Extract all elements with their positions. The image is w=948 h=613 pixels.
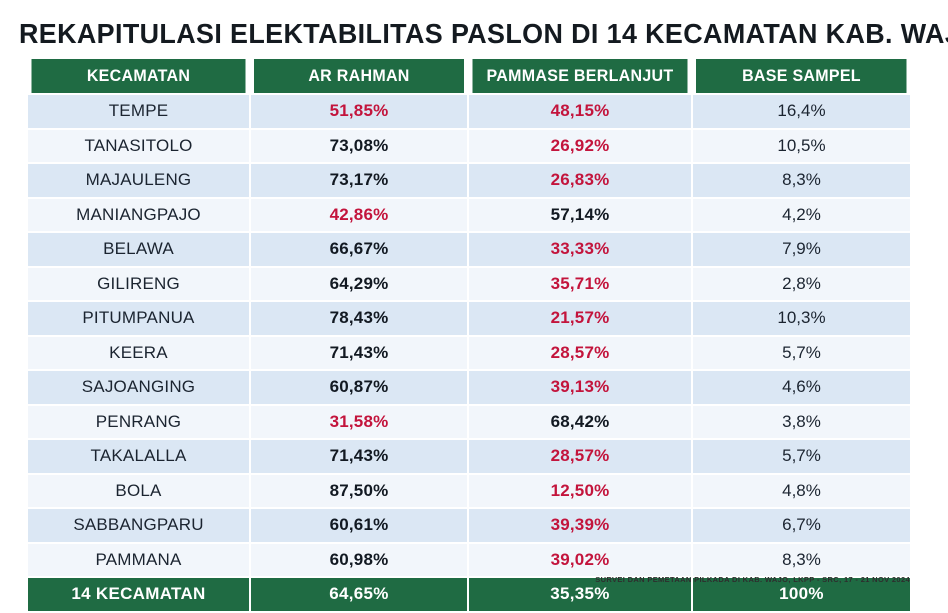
- column-header-ar-rahman: AR RAHMAN: [253, 59, 464, 94]
- cell-pammase-berlanjut: 28,57%: [468, 439, 692, 474]
- table-header: KECAMATAN AR RAHMAN PAMMASE BERLANJUT BA…: [28, 59, 910, 94]
- source-footnote: SURVEI DAN PEMETAAN PILKADA DI KAB. WAJO…: [595, 575, 910, 584]
- cell-kecamatan: MAJAULENG: [28, 163, 250, 198]
- cell-pammase-berlanjut: 28,57%: [468, 336, 692, 371]
- cell-base-sampel: 10,3%: [692, 301, 910, 336]
- cell-kecamatan: TAKALALLA: [28, 439, 250, 474]
- cell-pammase-berlanjut: 33,33%: [468, 232, 692, 267]
- cell-base-sampel: 4,6%: [692, 370, 910, 405]
- cell-kecamatan: TEMPE: [28, 94, 250, 129]
- cell-kecamatan: TANASITOLO: [28, 129, 250, 164]
- cell-kecamatan: BELAWA: [28, 232, 250, 267]
- cell-base-sampel: 5,7%: [692, 439, 910, 474]
- cell-pammase-berlanjut: 39,39%: [468, 508, 692, 543]
- cell-ar-rahman: 87,50%: [250, 474, 468, 509]
- cell-ar-rahman: 71,43%: [250, 439, 468, 474]
- cell-pammase-berlanjut: 68,42%: [468, 405, 692, 440]
- cell-ar-rahman: 64,29%: [250, 267, 468, 302]
- cell-ar-rahman: 78,43%: [250, 301, 468, 336]
- table-row: GILIRENG64,29%35,71%2,8%: [28, 267, 910, 302]
- table-row: SABBANGPARU60,61%39,39%6,7%: [28, 508, 910, 543]
- column-header-kecamatan: KECAMATAN: [31, 59, 246, 94]
- page-title: REKAPITULASI ELEKTABILITAS PASLON DI 14 …: [19, 18, 929, 50]
- cell-pammase-berlanjut: 39,02%: [468, 543, 692, 578]
- poster-root: REKAPITULASI ELEKTABILITAS PASLON DI 14 …: [0, 0, 948, 600]
- cell-pammase-berlanjut: 57,14%: [468, 198, 692, 233]
- cell-ar-rahman: 60,98%: [250, 543, 468, 578]
- cell-total-label: 14 KECAMATAN: [28, 577, 250, 612]
- table-row: PENRANG31,58%68,42%3,8%: [28, 405, 910, 440]
- cell-base-sampel: 7,9%: [692, 232, 910, 267]
- cell-base-sampel: 5,7%: [692, 336, 910, 371]
- cell-pammase-berlanjut: 48,15%: [468, 94, 692, 129]
- table-row: SAJOANGING60,87%39,13%4,6%: [28, 370, 910, 405]
- table-row: BOLA87,50%12,50%4,8%: [28, 474, 910, 509]
- cell-ar-rahman: 71,43%: [250, 336, 468, 371]
- cell-kecamatan: GILIRENG: [28, 267, 250, 302]
- cell-base-sampel: 6,7%: [692, 508, 910, 543]
- cell-kecamatan: KEERA: [28, 336, 250, 371]
- cell-base-sampel: 3,8%: [692, 405, 910, 440]
- cell-base-sampel: 8,3%: [692, 163, 910, 198]
- cell-pammase-berlanjut: 35,71%: [468, 267, 692, 302]
- cell-ar-rahman: 31,58%: [250, 405, 468, 440]
- cell-kecamatan: MANIANGPAJO: [28, 198, 250, 233]
- cell-ar-rahman: 73,17%: [250, 163, 468, 198]
- cell-ar-rahman: 60,61%: [250, 508, 468, 543]
- table-row: MANIANGPAJO42,86%57,14%4,2%: [28, 198, 910, 233]
- table-row: TEMPE51,85%48,15%16,4%: [28, 94, 910, 129]
- cell-kecamatan: PENRANG: [28, 405, 250, 440]
- cell-kecamatan: PAMMANA: [28, 543, 250, 578]
- cell-pammase-berlanjut: 26,83%: [468, 163, 692, 198]
- column-header-base-sampel: BASE SAMPEL: [695, 59, 906, 94]
- table-row: BELAWA66,67%33,33%7,9%: [28, 232, 910, 267]
- recap-table-container: KECAMATAN AR RAHMAN PAMMASE BERLANJUT BA…: [28, 59, 910, 613]
- cell-base-sampel: 2,8%: [692, 267, 910, 302]
- cell-kecamatan: BOLA: [28, 474, 250, 509]
- table-row: MAJAULENG73,17%26,83%8,3%: [28, 163, 910, 198]
- table-body: TEMPE51,85%48,15%16,4%TANASITOLO73,08%26…: [28, 94, 910, 612]
- cell-total-ar-rahman: 64,65%: [250, 577, 468, 612]
- cell-pammase-berlanjut: 26,92%: [468, 129, 692, 164]
- cell-kecamatan: PITUMPANUA: [28, 301, 250, 336]
- cell-base-sampel: 4,8%: [692, 474, 910, 509]
- cell-base-sampel: 16,4%: [692, 94, 910, 129]
- recapitulation-table: KECAMATAN AR RAHMAN PAMMASE BERLANJUT BA…: [28, 59, 910, 613]
- cell-pammase-berlanjut: 21,57%: [468, 301, 692, 336]
- table-row: KEERA71,43%28,57%5,7%: [28, 336, 910, 371]
- cell-base-sampel: 8,3%: [692, 543, 910, 578]
- cell-kecamatan: SAJOANGING: [28, 370, 250, 405]
- cell-ar-rahman: 42,86%: [250, 198, 468, 233]
- cell-pammase-berlanjut: 12,50%: [468, 474, 692, 509]
- column-header-pammase-berlanjut: PAMMASE BERLANJUT: [471, 59, 688, 94]
- cell-ar-rahman: 60,87%: [250, 370, 468, 405]
- cell-ar-rahman: 73,08%: [250, 129, 468, 164]
- table-row: TAKALALLA71,43%28,57%5,7%: [28, 439, 910, 474]
- cell-pammase-berlanjut: 39,13%: [468, 370, 692, 405]
- table-row: PITUMPANUA78,43%21,57%10,3%: [28, 301, 910, 336]
- table-row: PAMMANA60,98%39,02%8,3%: [28, 543, 910, 578]
- cell-kecamatan: SABBANGPARU: [28, 508, 250, 543]
- cell-base-sampel: 4,2%: [692, 198, 910, 233]
- table-row: TANASITOLO73,08%26,92%10,5%: [28, 129, 910, 164]
- header-row: KECAMATAN AR RAHMAN PAMMASE BERLANJUT BA…: [28, 59, 910, 94]
- cell-base-sampel: 10,5%: [692, 129, 910, 164]
- cell-ar-rahman: 51,85%: [250, 94, 468, 129]
- cell-ar-rahman: 66,67%: [250, 232, 468, 267]
